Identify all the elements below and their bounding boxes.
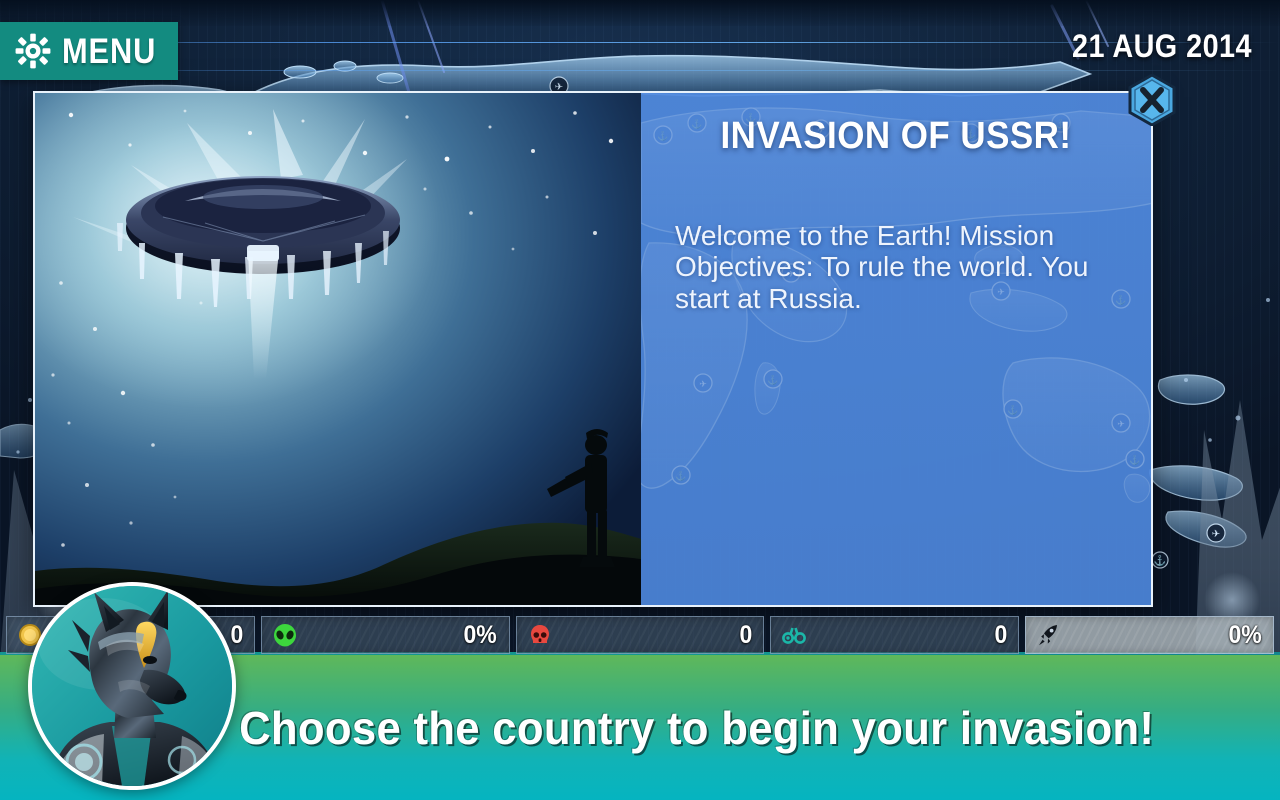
binoculars-icon <box>781 622 807 648</box>
mission-info-panel: ⚓⚓ ⚓✈ ⚓⚓ ✈⚓ ⚓✈ ⚓⚓ ✈⚓ ✈ INVASION OF USSR!… <box>641 93 1151 605</box>
close-x-icon <box>1128 74 1176 126</box>
status-slot-casualties[interactable]: 0 <box>516 616 765 654</box>
close-dialog-button[interactable] <box>1128 74 1176 126</box>
status-slot-intel[interactable]: 0 <box>770 616 1019 654</box>
game-date: 21 AUG 2014 <box>1072 28 1252 65</box>
status-value-rocket: 0% <box>1228 621 1261 650</box>
status-slot-alien[interactable]: 0% <box>261 616 510 654</box>
instruction-text: Choose the country to begin your invasio… <box>125 701 1154 755</box>
mission-artwork <box>35 93 641 605</box>
mission-description: Welcome to the Earth! Mission Objectives… <box>675 220 1123 314</box>
menu-button-label: MENU <box>62 34 156 69</box>
anubis-commander-avatar <box>32 586 232 786</box>
status-value-intel: 0 <box>995 621 1008 650</box>
game-screen: ✈ ✈ ⚓ <box>0 0 1280 800</box>
status-slot-rocket[interactable]: 0% <box>1025 616 1274 654</box>
scanline-lower <box>0 70 1280 71</box>
top-vignette <box>0 0 1280 26</box>
ufo-over-hills-illustration <box>35 93 641 605</box>
status-value-alien: 0% <box>464 621 497 650</box>
rocket-icon <box>1036 622 1062 648</box>
status-value-casualties: 0 <box>740 621 753 650</box>
menu-button[interactable]: MENU <box>0 22 178 80</box>
info-panel-tint <box>641 93 1151 605</box>
skull-icon <box>527 622 553 648</box>
mission-briefing-dialog: ⚓⚓ ⚓✈ ⚓⚓ ✈⚓ ⚓✈ ⚓⚓ ✈⚓ ✈ INVASION OF USSR!… <box>33 91 1153 607</box>
commander-avatar[interactable] <box>28 582 236 790</box>
svg-text:✈: ✈ <box>1212 529 1220 540</box>
alien-head-icon <box>272 622 298 648</box>
gear-icon <box>14 32 52 70</box>
status-value-coin: 0 <box>230 621 243 650</box>
svg-text:⚓: ⚓ <box>1154 554 1166 567</box>
mission-title: INVASION OF USSR! <box>661 115 1130 158</box>
